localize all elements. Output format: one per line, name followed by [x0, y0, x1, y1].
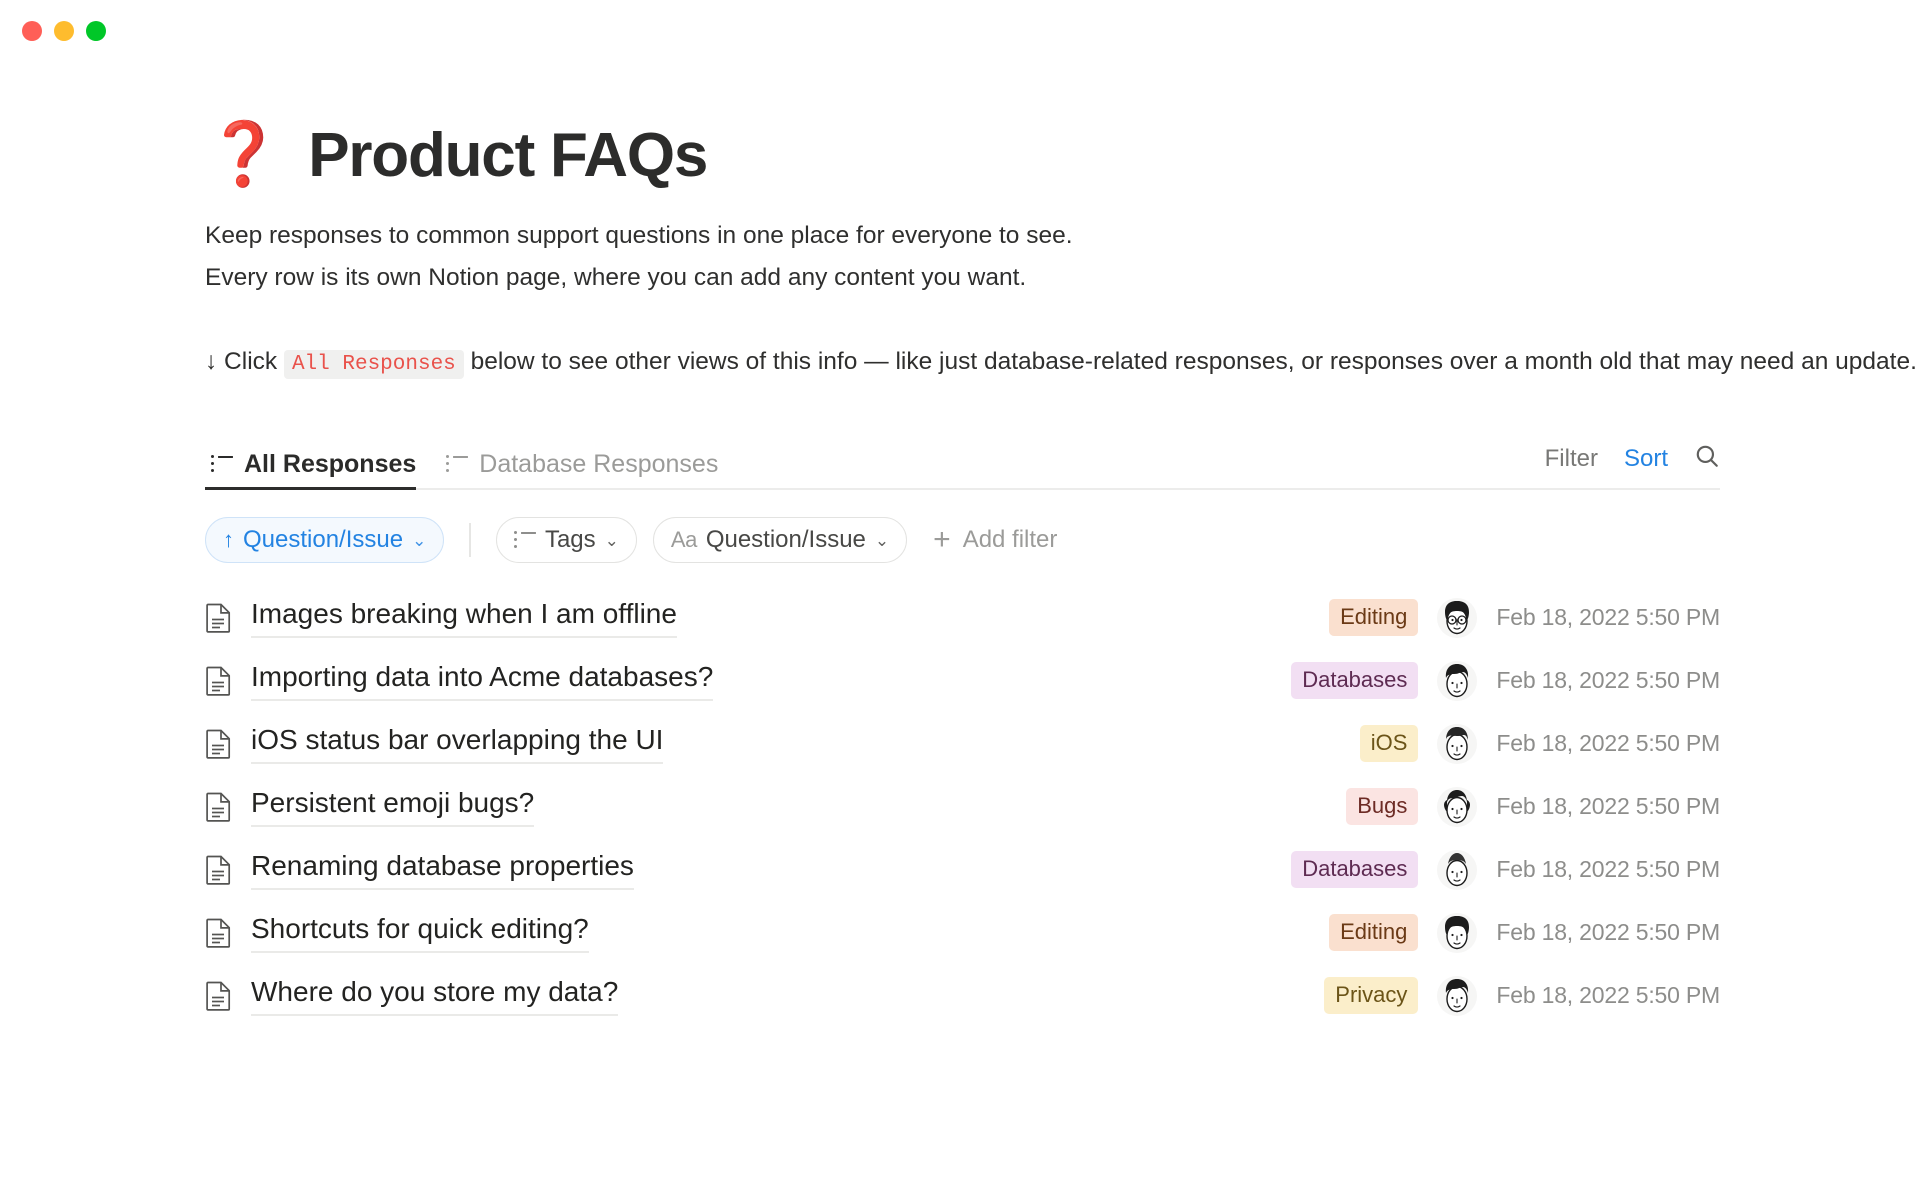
tag-cell: Databases [1168, 851, 1418, 889]
row-date: Feb 18, 2022 5:50 PM [1496, 856, 1720, 883]
row-title[interactable]: Shortcuts for quick editing? [251, 912, 589, 953]
window-maximize-button[interactable] [86, 21, 106, 41]
page-icon [205, 728, 235, 760]
page-icon [205, 854, 235, 886]
table-row[interactable]: Images breaking when I am offlineEditing… [205, 586, 1720, 649]
avatar-cell [1418, 724, 1496, 764]
avatar [1437, 787, 1477, 827]
page-content: ❓ Product FAQs Keep responses to common … [0, 120, 1920, 1027]
table-row[interactable]: Persistent emoji bugs?BugsFeb 18, 2022 5… [205, 775, 1720, 838]
callout-suffix: below to see other views of this info — … [471, 348, 1917, 375]
list-icon [446, 456, 468, 473]
response-list: Images breaking when I am offlineEditing… [205, 586, 1720, 1027]
page-header: ❓ Product FAQs [205, 120, 1720, 191]
avatar [1437, 598, 1477, 638]
table-row[interactable]: Importing data into Acme databases?Datab… [205, 649, 1720, 712]
tag-cell: Privacy [1168, 977, 1418, 1015]
avatar-cell [1418, 787, 1496, 827]
text-property-icon: Aa [671, 527, 697, 553]
avatar [1437, 724, 1477, 764]
window-titlebar [0, 0, 1920, 62]
chip-divider [469, 523, 471, 557]
status-badge[interactable]: Bugs [1346, 788, 1418, 826]
view-tabbar: All Responses Database Responses Filter … [205, 434, 1720, 490]
filter-chip-tags[interactable]: Tags ⌄ [496, 517, 637, 563]
tag-cell: Editing [1168, 599, 1418, 637]
row-title[interactable]: Persistent emoji bugs? [251, 786, 534, 827]
add-filter-label: Add filter [963, 526, 1058, 554]
description-line-1: Keep responses to common support questio… [205, 215, 1720, 257]
page-title[interactable]: Product FAQs [308, 120, 707, 191]
row-date: Feb 18, 2022 5:50 PM [1496, 730, 1720, 757]
callout-paragraph: ↓ Click All Responses below to see other… [205, 341, 1705, 386]
row-date: Feb 18, 2022 5:50 PM [1496, 919, 1720, 946]
avatar-cell [1418, 913, 1496, 953]
sort-button[interactable]: Sort [1624, 445, 1668, 473]
arrow-up-icon: ↑ [223, 527, 234, 553]
chevron-down-icon: ⌄ [875, 531, 889, 551]
tag-cell: Bugs [1168, 788, 1418, 826]
status-badge[interactable]: Databases [1291, 662, 1418, 700]
status-badge[interactable]: Editing [1329, 914, 1418, 952]
tag-cell: Editing [1168, 914, 1418, 952]
row-date: Feb 18, 2022 5:50 PM [1496, 604, 1720, 631]
page-description: Keep responses to common support questio… [205, 215, 1720, 386]
status-badge[interactable]: iOS [1360, 725, 1419, 763]
status-badge[interactable]: Databases [1291, 851, 1418, 889]
status-badge[interactable]: Editing [1329, 599, 1418, 637]
filter-chip-question-issue-label: Question/Issue [706, 526, 866, 554]
row-title[interactable]: Where do you store my data? [251, 975, 618, 1016]
avatar-cell [1418, 850, 1496, 890]
tab-database-responses[interactable]: Database Responses [440, 434, 732, 488]
filter-chip-tags-label: Tags [545, 526, 596, 554]
page-icon [205, 791, 235, 823]
list-icon [514, 532, 536, 549]
table-row[interactable]: Renaming database propertiesDatabasesFeb… [205, 838, 1720, 901]
page-icon [205, 917, 235, 949]
tag-cell: iOS [1168, 725, 1418, 763]
view-controls: Filter Sort [1545, 443, 1720, 488]
row-date: Feb 18, 2022 5:50 PM [1496, 793, 1720, 820]
row-title[interactable]: iOS status bar overlapping the UI [251, 723, 663, 764]
filter-chip-question-issue[interactable]: Aa Question/Issue ⌄ [653, 517, 907, 563]
chevron-down-icon: ⌄ [412, 531, 426, 551]
page-icon [205, 980, 235, 1012]
tab-database-responses-label: Database Responses [479, 450, 718, 479]
window-minimize-button[interactable] [54, 21, 74, 41]
tag-cell: Databases [1168, 662, 1418, 700]
chevron-down-icon: ⌄ [605, 531, 619, 551]
avatar-cell [1418, 598, 1496, 638]
table-row[interactable]: Where do you store my data?PrivacyFeb 18… [205, 964, 1720, 1027]
row-title[interactable]: Images breaking when I am offline [251, 597, 677, 638]
sort-chip-label: Question/Issue [243, 526, 403, 554]
sort-chip-question-issue[interactable]: ↑ Question/Issue ⌄ [205, 517, 444, 563]
filter-button[interactable]: Filter [1545, 445, 1598, 473]
avatar [1437, 913, 1477, 953]
question-mark-icon: ❓ [205, 123, 282, 185]
table-row[interactable]: iOS status bar overlapping the UIiOSFeb … [205, 712, 1720, 775]
plus-icon: + [933, 525, 951, 555]
tab-all-responses-label: All Responses [244, 450, 416, 479]
add-filter-button[interactable]: + Add filter [933, 525, 1057, 555]
row-date: Feb 18, 2022 5:50 PM [1496, 667, 1720, 694]
avatar [1437, 976, 1477, 1016]
window-close-button[interactable] [22, 21, 42, 41]
description-line-2: Every row is its own Notion page, where … [205, 257, 1720, 299]
page-icon [205, 665, 235, 697]
avatar-cell [1418, 661, 1496, 701]
status-badge[interactable]: Privacy [1324, 977, 1418, 1015]
table-row[interactable]: Shortcuts for quick editing?EditingFeb 1… [205, 901, 1720, 964]
avatar [1437, 661, 1477, 701]
view-tabs: All Responses Database Responses [205, 434, 732, 488]
callout-prefix: ↓ Click [205, 348, 277, 375]
row-title[interactable]: Renaming database properties [251, 849, 634, 890]
avatar-cell [1418, 976, 1496, 1016]
tab-all-responses[interactable]: All Responses [205, 434, 430, 488]
list-icon [211, 456, 233, 473]
page-icon [205, 602, 235, 634]
filter-chip-row: ↑ Question/Issue ⌄ Tags ⌄ Aa Question/Is… [205, 516, 1720, 564]
description-blank-line [205, 299, 1720, 341]
row-title[interactable]: Importing data into Acme databases? [251, 660, 713, 701]
avatar [1437, 850, 1477, 890]
search-icon[interactable] [1694, 443, 1720, 474]
row-date: Feb 18, 2022 5:50 PM [1496, 982, 1720, 1009]
all-responses-code-chip[interactable]: All Responses [284, 350, 464, 379]
